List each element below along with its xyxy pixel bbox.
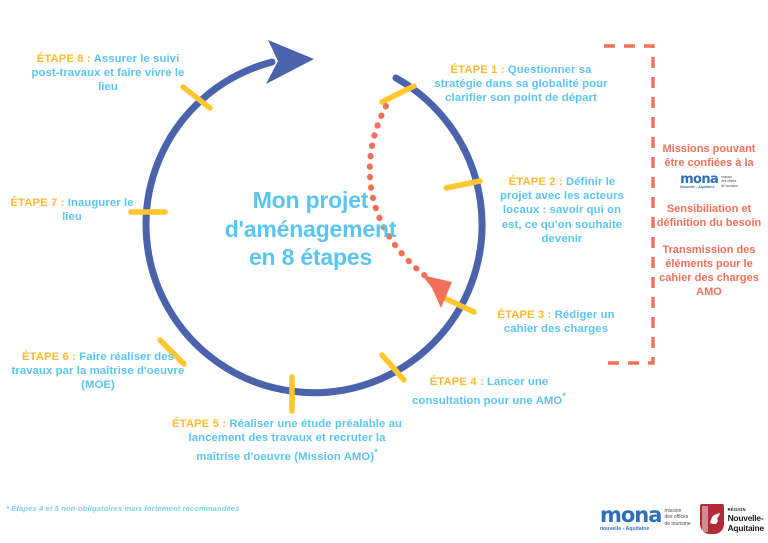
page-title: Mon projet d'aménagement en 8 étapes [188,186,433,272]
step-tag-3: ÉTAPE 3 : [497,309,554,321]
footnote: * Étapes 4 et 5 non-obligatoires mais fo… [6,504,336,514]
mona-tagline: Nouvelle - Aquitaine [680,185,718,189]
step-label-3: ÉTAPE 3 : Rédiger un cahier des charges [481,308,631,336]
tick-step2 [446,181,480,188]
step-asterisk-4: * [562,391,566,401]
shortcut-arrowhead [422,275,452,308]
step-label-4: ÉTAPE 4 : Lancer une consultation pour u… [405,375,573,408]
step-label-6: ÉTAPE 6 : Faire réaliser des travaux par… [3,350,193,393]
nouvelle-aquitaine-logo: RÉGION Nouvelle- Aquitaine [700,504,764,534]
mona-footer-descriptor-line-2: des offices [664,514,690,520]
infographic-canvas: Mon projet d'aménagement en 8 étapes ÉTA… [0,0,768,543]
lion-icon [708,512,721,526]
mona-footer-descriptor: mission des offices de tourisme [664,508,690,527]
crest-stripes-icon [702,506,709,532]
missions-heading-line-2: être confiées à la [650,156,768,170]
center-title-line-1: Mon projet [188,186,433,215]
step-tag-7: ÉTAPE 7 : [10,197,67,209]
mission-item-2: Transmission des éléments pour le cahier… [650,243,768,299]
step-tag-5: ÉTAPE 5 : [172,418,229,430]
step-label-7: ÉTAPE 7 : Inaugurer le lieu [2,196,142,224]
mona-footer-wordmark: mona [600,506,661,525]
step-tag-4: ÉTAPE 4 : [430,376,487,388]
circle-arrowhead [266,40,314,84]
mona-wordmark: mona [680,174,718,185]
step-tag-1: ÉTAPE 1 : [451,64,508,76]
mona-footer-descriptor-line-3: de tourisme [664,521,690,527]
step-label-2: ÉTAPE 2 : Définir le projet avec les act… [492,175,632,246]
step-tag-2: ÉTAPE 2 : [509,176,566,188]
mona-descriptor-line-3: de tourisme [721,184,738,188]
mona-descriptor-line-2: des offices [721,179,738,183]
mona-mission-descriptor: mission des offices de tourisme [721,175,738,188]
mona-logo-panel: mona Nouvelle - Aquitaine mission des of… [650,174,768,189]
step-tag-8: ÉTAPE 8 : [37,53,94,65]
step-label-5: ÉTAPE 5 : Réaliser une étude préalable a… [172,417,402,464]
missions-heading-line-1: Missions pouvant [650,142,768,156]
mission-item-1: Sensibiliation et définition du besoin [650,202,768,230]
missions-panel-heading: Missions pouvant être confiées à la [650,142,768,170]
step-text-7: Inaugurer le lieu [62,197,134,223]
missions-panel: Missions pouvant être confiées à la mona… [650,142,768,299]
tick-step3 [442,297,474,312]
center-title-line-2: d'aménagement [188,215,433,244]
region-wordmark: RÉGION Nouvelle- Aquitaine [728,505,764,533]
tick-step1 [382,86,414,102]
step-label-1: ÉTAPE 1 : Questionner sa stratégie dans … [431,63,611,106]
center-title-line-3: en 8 étapes [188,243,433,272]
step-asterisk-5: * [374,447,378,457]
tick-step4 [382,355,404,380]
footer-logos: mona nouvelle - Aquitaine mission des of… [600,500,768,538]
step-tag-6: ÉTAPE 6 : [22,351,79,363]
region-line-2: Aquitaine [728,523,764,533]
region-crest-icon [700,504,724,534]
mona-logo-footer: mona nouvelle - Aquitaine mission des of… [600,506,691,532]
step-label-8: ÉTAPE 8 : Assurer le suivi post-travaux … [22,52,194,95]
